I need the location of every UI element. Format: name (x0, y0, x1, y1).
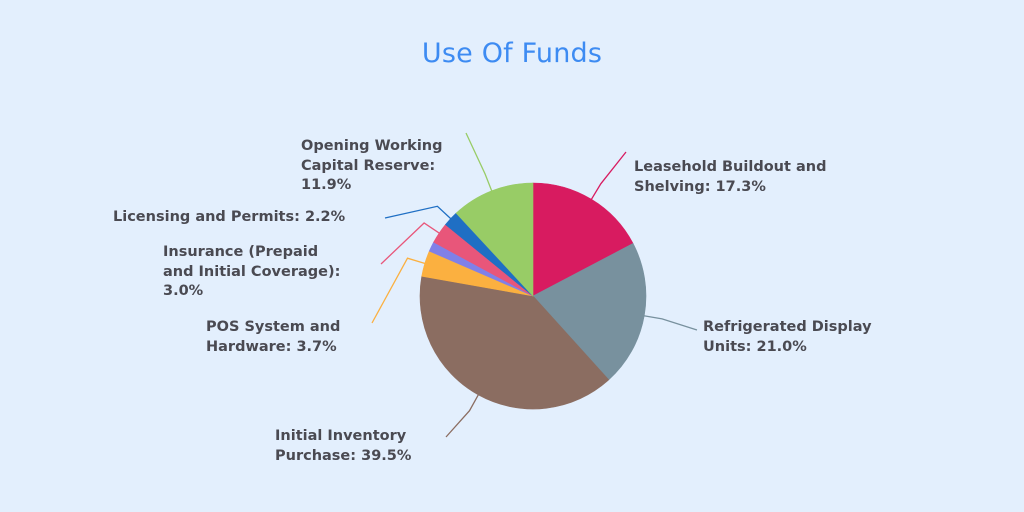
pie-chart-canvas (0, 0, 1024, 512)
leader-line (372, 258, 426, 323)
leader-line (591, 152, 626, 200)
slice-label: Opening Working Capital Reserve: 11.9% (301, 137, 443, 196)
leader-line (466, 133, 492, 192)
slice-label: Refrigerated Display Units: 21.0% (703, 318, 872, 357)
slice-label: POS System and Hardware: 3.7% (206, 318, 340, 357)
pie-slices-group (420, 183, 646, 409)
leader-line (446, 394, 479, 437)
pie-chart-figure: Use Of Funds Leasehold Buildout and Shel… (0, 0, 1024, 512)
slice-label: Leasehold Buildout and Shelving: 17.3% (634, 158, 826, 197)
leader-line (643, 316, 697, 330)
slice-label: Licensing and Permits: 2.2% (113, 208, 345, 228)
slice-label: Initial Inventory Purchase: 39.5% (275, 427, 411, 466)
slice-label: Insurance (Prepaid and Initial Coverage)… (163, 243, 340, 302)
leader-line (385, 206, 452, 219)
